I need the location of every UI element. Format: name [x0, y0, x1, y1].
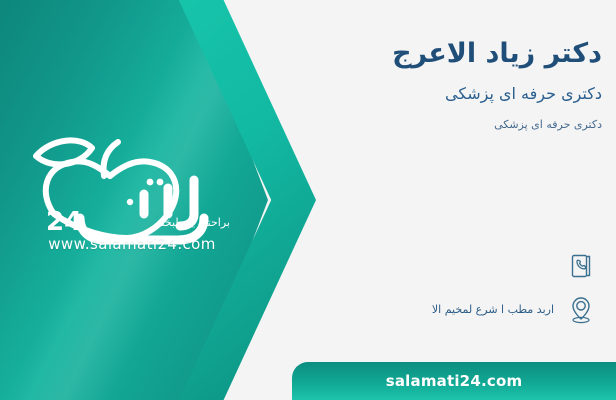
- doctor-profile-card: 24 براحتی یک لبخند www.salamati24.com دک…: [0, 0, 616, 400]
- phone-book-icon: [562, 248, 600, 284]
- doctor-info-block: دکتر زیاد الاعرج دکتری حرفه ای پزشکی دکت…: [242, 36, 602, 133]
- footer-website-label: salamati24.com: [386, 372, 523, 390]
- contact-address-label: اربد مطب ا شرع لمخیم الا: [270, 302, 562, 319]
- contact-row-address[interactable]: اربد مطب ا شرع لمخیم الا: [270, 292, 600, 328]
- contact-list: اربد مطب ا شرع لمخیم الا: [270, 248, 600, 336]
- doctor-specialty-secondary: دکتری حرفه ای پزشکی: [242, 117, 602, 132]
- doctor-specialty: دکتری حرفه ای پزشکی: [242, 83, 602, 105]
- footer-bar[interactable]: salamati24.com: [292, 362, 616, 400]
- logo-badge-24: 24: [46, 207, 82, 237]
- location-pin-icon: [562, 292, 600, 328]
- brand-logo: 24 براحتی یک لبخند www.salamati24.com: [18, 118, 238, 268]
- doctor-name: دکتر زیاد الاعرج: [242, 36, 602, 71]
- svg-text:24: 24: [46, 207, 82, 237]
- contact-row-phone[interactable]: [270, 248, 600, 284]
- logo-tagline: براحتی یک لبخند: [156, 216, 230, 229]
- logo-website-url: www.salamati24.com: [32, 235, 232, 253]
